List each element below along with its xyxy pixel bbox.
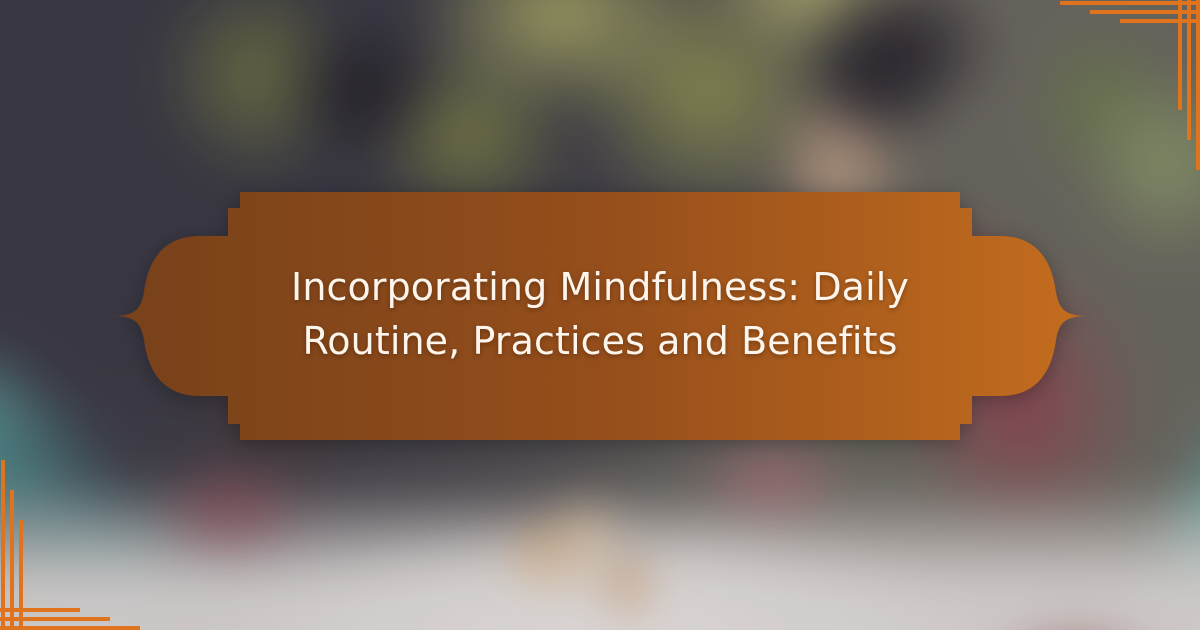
badge-title-block: Incorporating Mindfulness: Daily Routine… bbox=[220, 192, 980, 440]
share-card: Incorporating Mindfulness: Daily Routine… bbox=[0, 0, 1200, 630]
page-title: Incorporating Mindfulness: Daily Routine… bbox=[220, 261, 980, 369]
title-badge: Incorporating Mindfulness: Daily Routine… bbox=[100, 192, 1100, 440]
